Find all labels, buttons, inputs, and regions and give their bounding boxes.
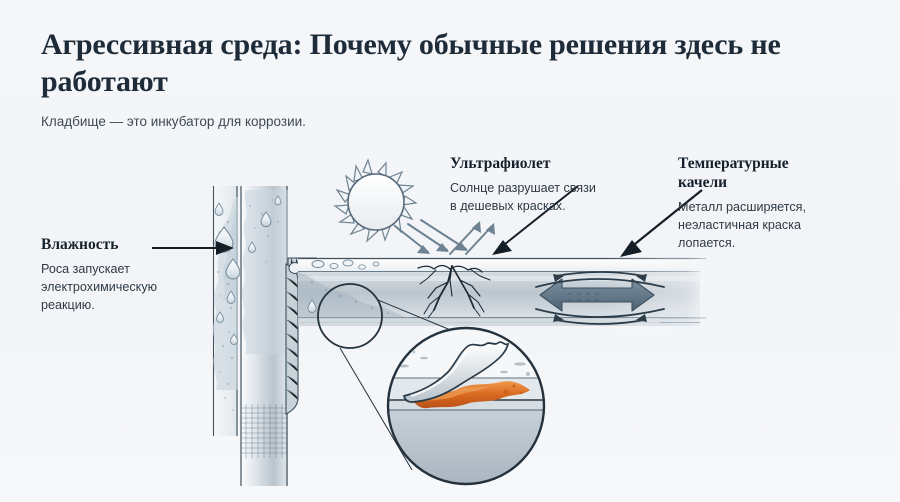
annotation-thermal-body: Металл расширяется, неэластичная краска … <box>678 198 893 253</box>
infographic-page: Агрессивная среда: Почему обычные решени… <box>0 0 900 502</box>
annotation-thermal: Температурные качели Металл расширяется,… <box>678 155 893 253</box>
annotation-humidity-body: Роса запускает электрохимическую реакцию… <box>41 260 221 315</box>
annotation-humidity-label: Влажность <box>41 236 221 255</box>
wall-post <box>240 186 288 486</box>
uv-ray-arrows <box>395 220 468 254</box>
annotation-thermal-label: Температурные качели <box>678 155 893 193</box>
annotation-uv-label: Ультрафиолет <box>450 155 665 174</box>
annotation-humidity: Влажность Роса запускает электрохимическ… <box>41 236 221 315</box>
sun-icon <box>335 160 416 241</box>
annotation-uv: Ультрафиолет Солнце разрушает связи в де… <box>450 155 665 215</box>
annotation-uv-body: Солнце разрушает связи в дешевых красках… <box>450 179 665 216</box>
